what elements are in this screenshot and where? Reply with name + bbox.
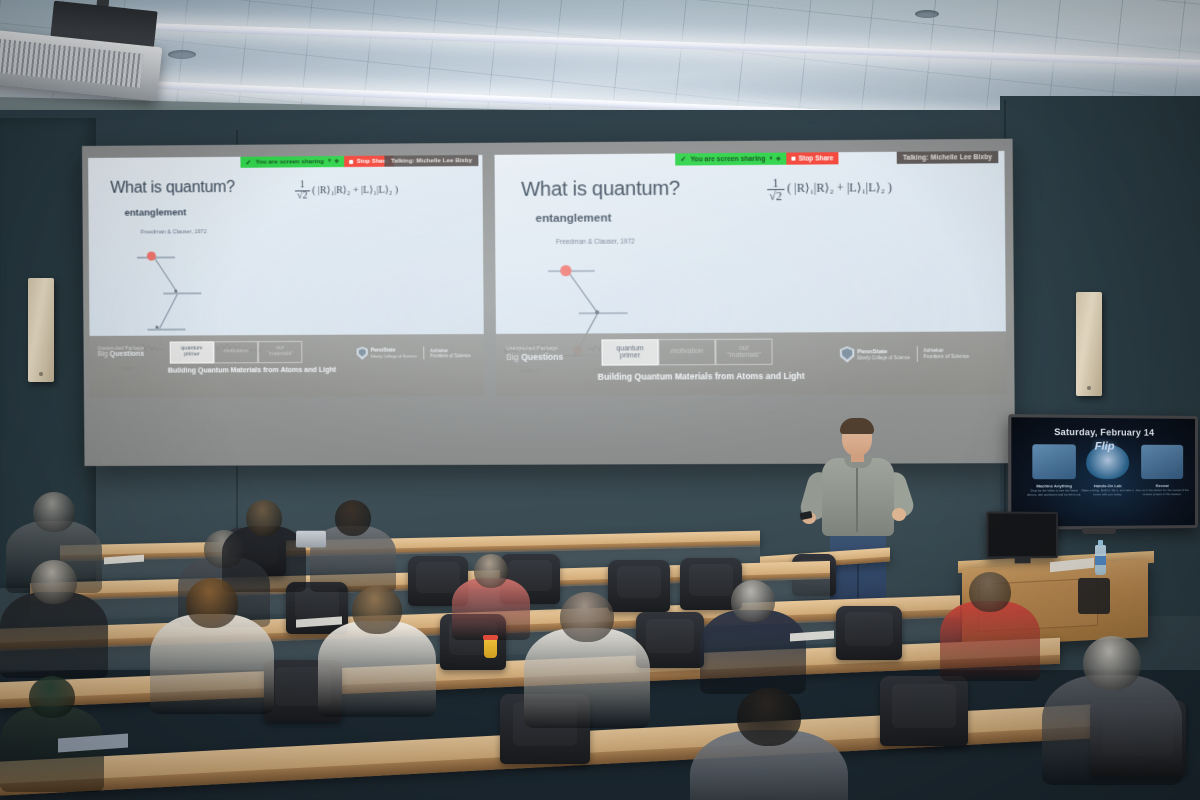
tv-card-3-body: Join us in the atrium for the reveal of … (1135, 489, 1189, 497)
audience-person-head (31, 560, 77, 604)
talking-indicator-right: Talking: Michelle Lee Bixby (897, 151, 999, 164)
sharing-label: You are screen sharing (255, 159, 324, 166)
pennstate-wordmark: PennState Eberly College of Science (371, 347, 417, 358)
podium-equipment-box (1078, 578, 1110, 614)
audience-person-11 (940, 572, 1040, 692)
stop-share-label: Stop Share (798, 155, 833, 162)
audience-person-head (246, 500, 282, 536)
slide-footer-right: Unexpected Package Big Questions quantum… (496, 331, 1006, 396)
check-icon: ✓ (680, 155, 686, 163)
ceiling-projector (0, 10, 176, 96)
slide-footer-left: Unexpected Package Big Questions quantum… (89, 334, 484, 398)
slide-nav-buttons-right[interactable]: quantum primer motivation our “materials… (601, 339, 772, 366)
nav-button-quantum-primer[interactable]: quantum primer (601, 339, 658, 365)
talking-label: Talking: Michelle Lee Bixby (903, 154, 992, 162)
audience-person-body (150, 614, 274, 714)
pennstate-shield-icon (357, 347, 368, 360)
ashtekar-wordmark: Ashtekar Frontiers of Science (430, 348, 471, 358)
check-icon: ✓ (245, 158, 251, 166)
tv-date-title: Saturday, February 14 (1011, 427, 1195, 438)
atomic-cascade-diagram-left (129, 245, 240, 346)
audience-person-head (1083, 636, 1141, 690)
slide-tagline-left: Building Quantum Materials from Atoms an… (168, 367, 336, 375)
formula-expression: ( |R⟩₁|R⟩₂ + |L⟩₁|L⟩₂ ) (787, 180, 892, 195)
projected-slide-right: ✓ You are screen sharing ⏸ ❖ Stop Share … (495, 151, 1007, 396)
audience-person-2 (0, 560, 108, 690)
annotate-icon[interactable]: ❖ (334, 158, 339, 165)
water-bottle (1095, 545, 1106, 575)
formula-fraction: 1 √2 (295, 180, 310, 201)
audience-person-7 (318, 586, 436, 730)
ashtekar-wordmark: Ashtekar Frontiers of Science (923, 348, 969, 360)
audience-person-body (524, 628, 650, 728)
nav-button-our-materials[interactable]: our “materials” (715, 339, 772, 366)
audience-person-head (737, 688, 801, 746)
slide-tagline-right: Building Quantum Materials from Atoms an… (598, 371, 805, 382)
big-questions-logo-left: Unexpected Package Big Questions (98, 346, 145, 358)
audience-person-body (0, 592, 108, 678)
screen-sharing-indicator: ✓ You are screen sharing ⏸ ❖ (675, 153, 786, 166)
tv-card-2-body: Make a thing. Build it, flip it, and tak… (1080, 489, 1135, 497)
presenter-jeans (830, 532, 886, 602)
stop-share-label: Stop Share (357, 158, 389, 164)
slide-citation-left: Freedman & Clauser, 1972 (141, 229, 207, 235)
lecture-hall-scene: ✓ You are screen sharing ⏸ ❖ Stop Share … (0, 0, 1200, 800)
wall-speaker (1076, 292, 1102, 396)
audience-person-head (352, 586, 402, 634)
nav-button-motivation[interactable]: motivation (214, 341, 258, 363)
presenter-jacket (822, 458, 894, 536)
big-questions-logo-right: Unexpected Package Big Questions (506, 346, 563, 362)
slide-subtitle-right: entanglement (535, 212, 611, 225)
presenter-right-hand (892, 508, 906, 521)
pennstate-shield-icon (840, 346, 854, 362)
audience-person-head (33, 492, 75, 532)
slide-title-left: What is quantum? (110, 179, 235, 198)
screen-sharing-indicator: ✓ You are screen sharing ⏸ ❖ (240, 156, 344, 168)
audience-person-12 (1042, 636, 1182, 800)
laptop (296, 531, 326, 548)
stop-icon (791, 157, 795, 161)
pennstate-logo-left: PennState Eberly College of Science Asht… (357, 346, 471, 360)
nav-button-our-materials[interactable]: our “materials” (258, 341, 302, 363)
stop-icon (350, 159, 354, 163)
annotate-icon[interactable]: ❖ (776, 155, 782, 162)
presenter-hair (840, 418, 874, 434)
coffee-cup (484, 638, 497, 658)
audience-person-6 (150, 578, 274, 728)
slide-citation-right: Freedman & Clauser, 1972 (556, 238, 635, 246)
excited-state-dot-left (147, 252, 156, 261)
chair (836, 606, 902, 660)
excited-state-dot-right (560, 265, 571, 276)
audience-person-head (969, 572, 1011, 612)
audience-person-head (335, 500, 371, 536)
state-dot-mid-left (174, 289, 177, 292)
share-controls[interactable]: ⏸ ❖ (328, 158, 340, 165)
audience-person-head (731, 580, 775, 622)
audience-person-body (700, 610, 806, 694)
audience-person-head (186, 578, 238, 628)
pennstate-logo-right: PennState Eberly College of Science Asht… (840, 346, 969, 363)
talking-label: Talking: Michelle Lee Bixby (391, 158, 472, 165)
pause-icon[interactable]: ⏸ (328, 158, 331, 165)
talking-indicator-left: Talking: Michelle Lee Bixby (385, 155, 479, 167)
zoom-share-toolbar-left[interactable]: ✓ You are screen sharing ⏸ ❖ Stop Share (240, 156, 393, 168)
projected-slide-left: ✓ You are screen sharing ⏸ ❖ Stop Share … (88, 155, 484, 398)
tv-stand (1082, 528, 1116, 534)
tv-flip-word: Flip (1011, 440, 1195, 453)
audience-person-body (318, 621, 436, 717)
logo-divider (916, 346, 917, 362)
slide-subtitle-left: entanglement (125, 207, 187, 218)
nav-button-quantum-primer[interactable]: quantum primer (170, 341, 214, 363)
state-dot-mid-right (595, 310, 599, 314)
formula-fraction: 1 √2 (767, 177, 784, 202)
slide-formula-right: 1 √2 ( |R⟩₁|R⟩₂ + |L⟩₁|L⟩₂ ) (767, 176, 892, 202)
audience-person-body (1042, 675, 1182, 785)
tv-card-1-body: Drop by the lobby to see the latest demo… (1026, 489, 1082, 497)
state-dot-low-left (155, 326, 158, 329)
audience-person-head (560, 592, 614, 642)
wall-speaker (28, 278, 54, 382)
nav-button-motivation[interactable]: motivation (658, 339, 715, 366)
presenter-jacket-zipper (856, 460, 858, 532)
audience-person-head (474, 554, 508, 588)
ceiling-vent (915, 10, 939, 18)
audience-person-13 (690, 688, 848, 800)
dell-monitor (986, 511, 1058, 558)
stop-share-button[interactable]: Stop Share (786, 152, 839, 165)
sharing-label: You are screen sharing (690, 155, 765, 163)
projection-screen-area: ✓ You are screen sharing ⏸ ❖ Stop Share … (82, 139, 1015, 466)
share-controls[interactable]: ⏸ ❖ (769, 155, 781, 162)
pause-icon[interactable]: ⏸ (769, 155, 772, 162)
audience-person-body (940, 601, 1040, 681)
audience-person-head (29, 676, 75, 718)
logo-divider (423, 346, 424, 359)
pennstate-wordmark: PennState Eberly College of Science (857, 349, 910, 360)
slide-nav-buttons-left[interactable]: quantum primer motivation our “materials… (170, 341, 303, 364)
slide-title-right: What is quantum? (521, 178, 680, 202)
formula-expression: ( |R⟩₁|R⟩₂ + |L⟩₁|L⟩₂ ) (312, 185, 398, 197)
audience-person-9 (524, 592, 650, 742)
zoom-share-toolbar-right[interactable]: ✓ You are screen sharing ⏸ ❖ Stop Share (675, 152, 839, 165)
slide-formula-left: 1 √2 ( |R⟩₁|R⟩₂ + |L⟩₁|L⟩₂ ) (295, 180, 398, 202)
